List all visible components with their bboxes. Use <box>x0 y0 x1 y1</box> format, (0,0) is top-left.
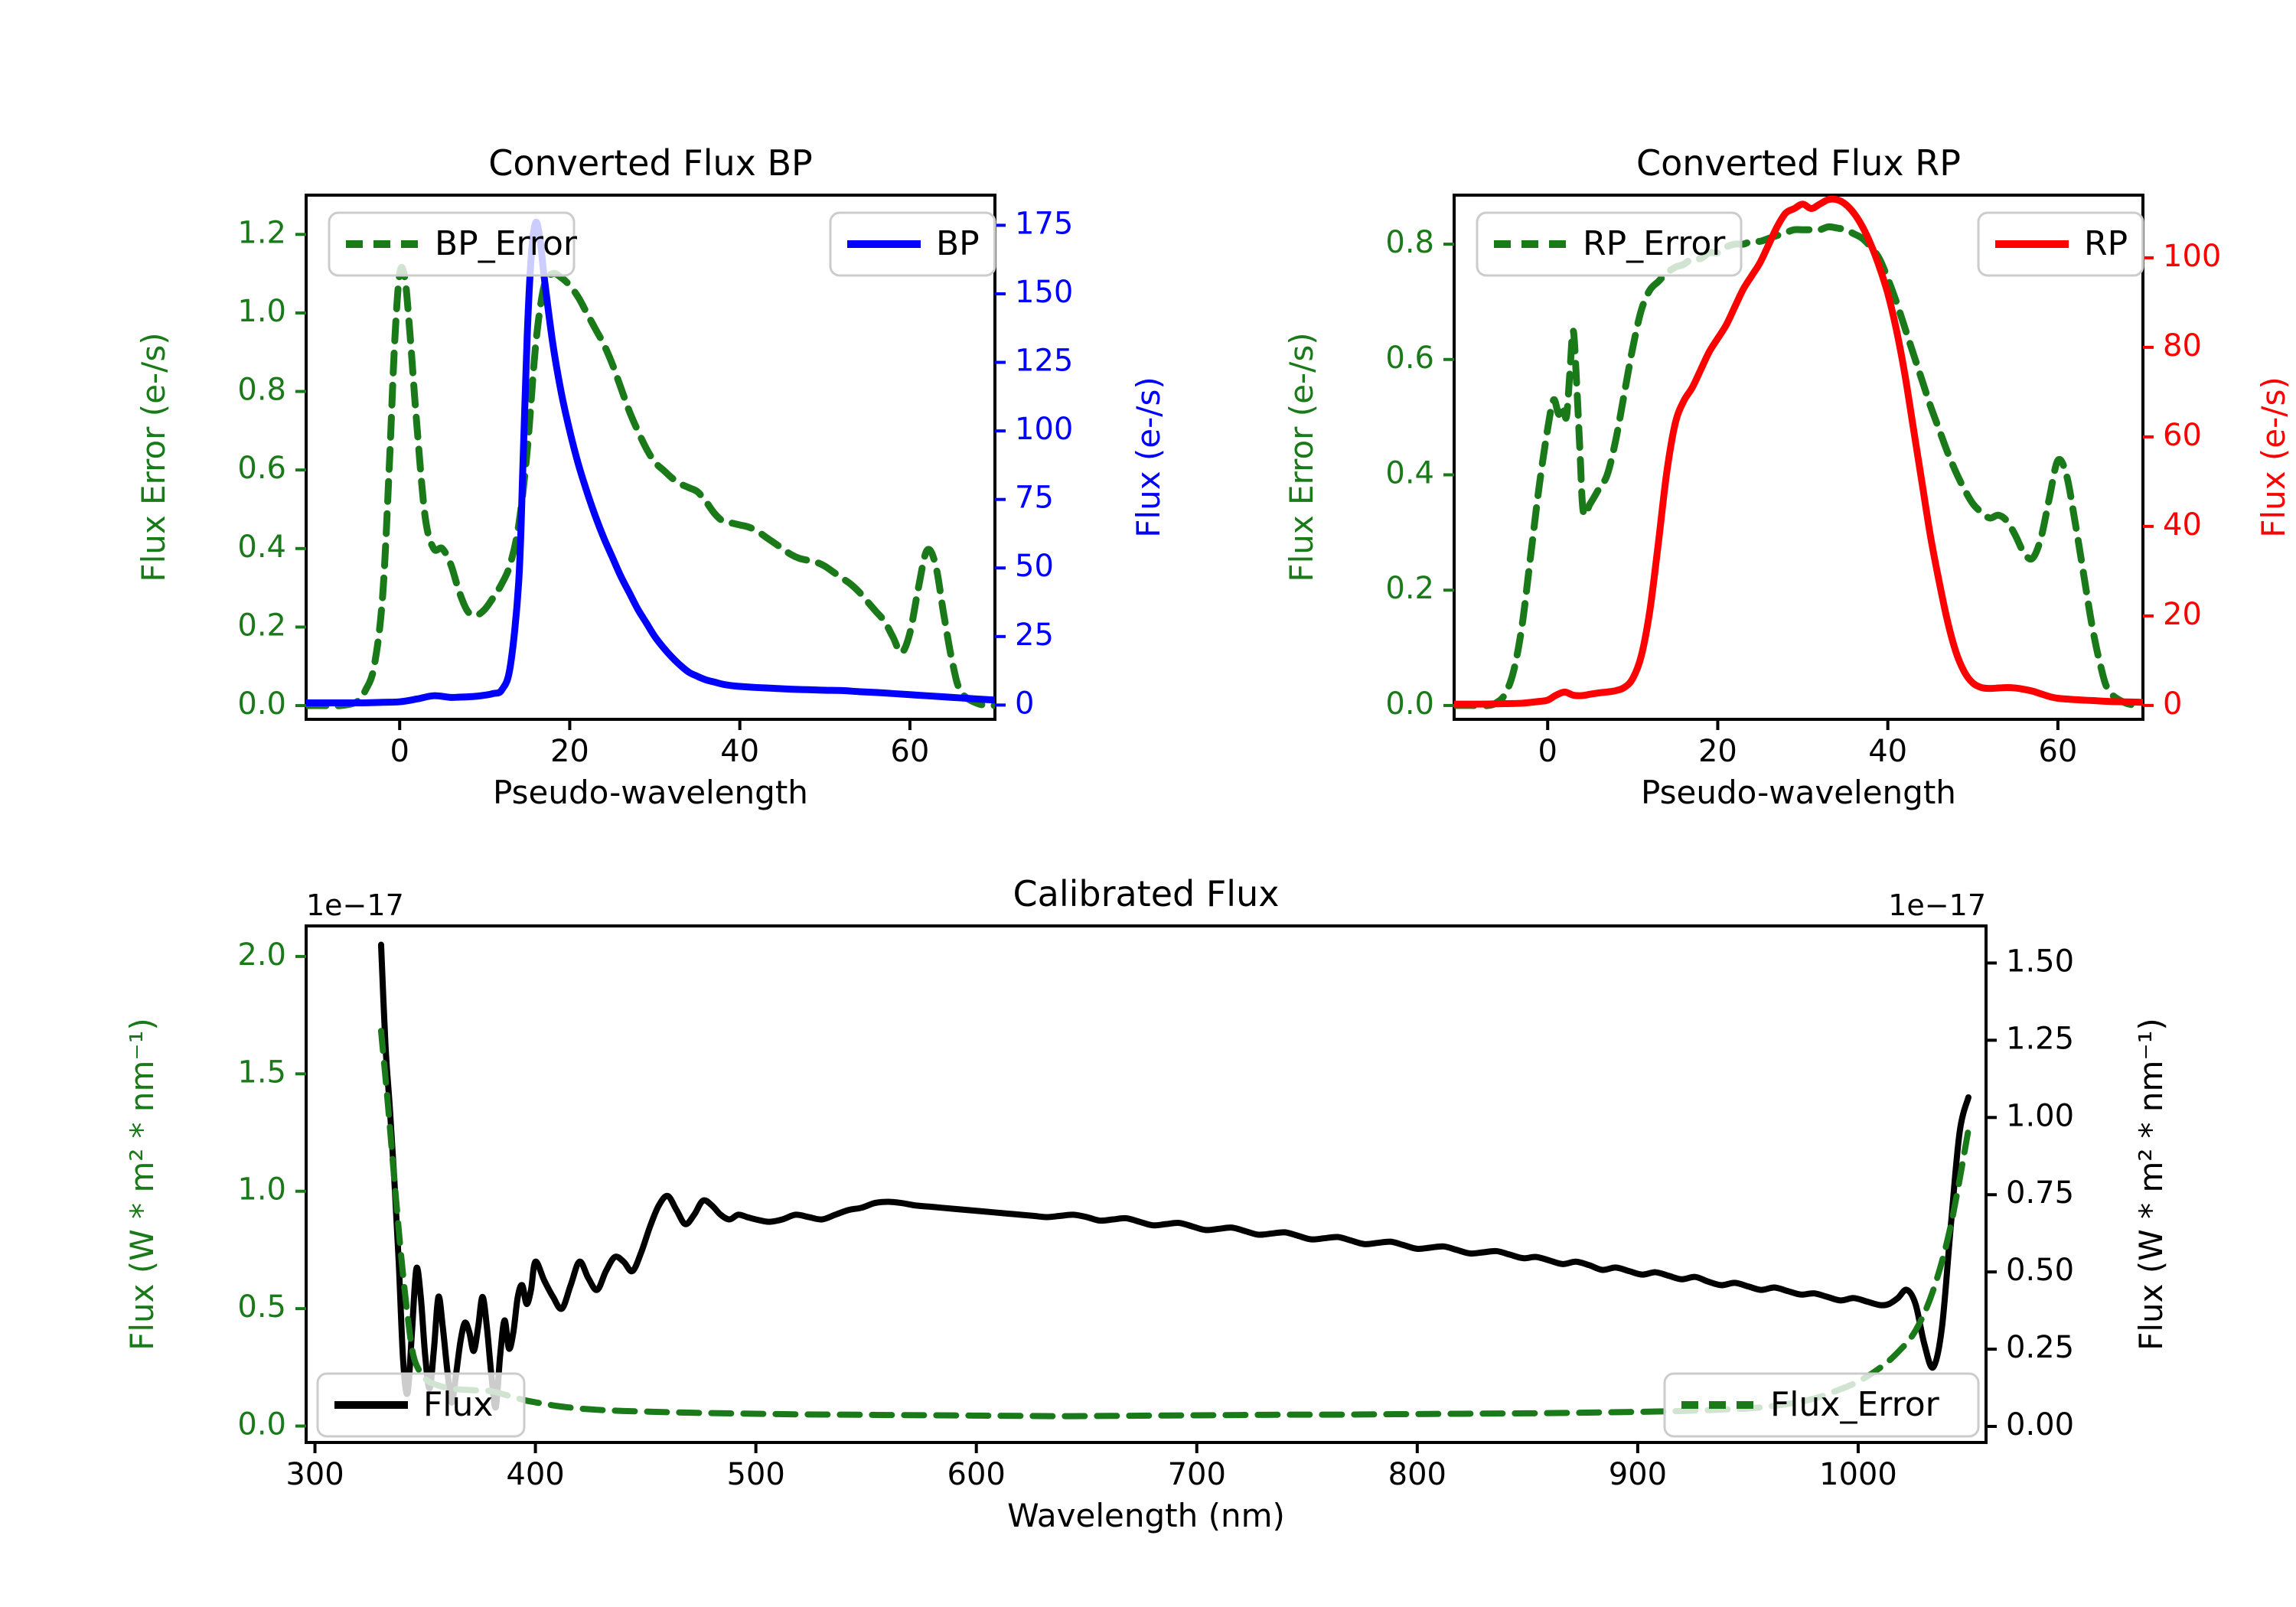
y-tick-label-right: 125 <box>1015 344 1073 379</box>
x-tick-label: 20 <box>1698 734 1737 769</box>
x-tick-label: 600 <box>947 1457 1006 1492</box>
y-axis-label-right: Flux (e-/s) <box>2255 376 2292 537</box>
y-tick-label: 0.0 <box>237 686 286 722</box>
y-axis-label-right: Flux (W * m² * nm⁻¹) <box>2132 1018 2170 1351</box>
legend-label: RP <box>2084 224 2128 263</box>
x-axis-label: Wavelength (nm) <box>1007 1497 1285 1534</box>
legend-flux_error[interactable]: Flux_Error <box>1665 1374 1978 1436</box>
y-tick-label: 0.8 <box>237 373 286 408</box>
y-tick-label: 0.4 <box>1385 455 1434 491</box>
matplotlib-figure: Converted Flux BP0204060Pseudo-wavelengt… <box>0 0 2296 1607</box>
y-tick-label: 1.0 <box>237 1172 286 1208</box>
series-line-bp_error <box>306 267 995 706</box>
axes-frame <box>306 926 1986 1442</box>
legend-rp_error[interactable]: RP_Error <box>1477 213 1741 275</box>
y-tick-label-right: 0 <box>1015 686 1034 721</box>
chart-converted-flux-rp: Converted Flux RP0204060Pseudo-wavelengt… <box>1148 0 2296 803</box>
y-tick-label-right: 0.75 <box>2006 1175 2074 1211</box>
y-axis-label: Flux (W * m² * nm⁻¹) <box>123 1018 161 1351</box>
panel-converted-flux-rp: Converted Flux RP0204060Pseudo-wavelengt… <box>1148 0 2296 803</box>
x-tick-label: 300 <box>285 1457 344 1492</box>
panel-converted-flux-bp: Converted Flux BP0204060Pseudo-wavelengt… <box>0 0 1148 803</box>
y-tick-label: 0.6 <box>1385 341 1434 376</box>
y-tick-label-right: 100 <box>1015 412 1073 447</box>
y-tick-label-right: 60 <box>2163 418 2202 453</box>
y-tick-label: 0.4 <box>237 530 286 565</box>
x-tick-label: 40 <box>720 734 759 769</box>
chart-title: Converted Flux RP <box>1636 142 1961 184</box>
x-tick-label: 20 <box>550 734 589 769</box>
y-tick-label-right: 40 <box>2163 507 2202 543</box>
series-line-flux <box>381 945 1968 1408</box>
x-tick-label: 0 <box>1538 734 1557 769</box>
x-tick-label: 40 <box>1868 734 1907 769</box>
y-tick-label-right: 0 <box>2163 686 2182 722</box>
x-tick-label: 800 <box>1388 1457 1446 1492</box>
y-axis-offset-label: 1e−17 <box>306 888 404 922</box>
y-tick-label: 0.8 <box>1385 225 1434 260</box>
y-axis-right-offset-label: 1e−17 <box>1888 888 1986 922</box>
y-tick-label-right: 0.50 <box>2006 1253 2074 1288</box>
y-tick-label: 1.5 <box>237 1054 286 1090</box>
x-tick-label: 60 <box>2038 734 2077 769</box>
legend-label: RP_Error <box>1583 224 1726 263</box>
y-tick-label: 2.0 <box>237 937 286 973</box>
y-tick-label: 1.0 <box>237 294 286 329</box>
chart-calibrated-flux: Calibrated Flux1e−171e−17300400500600700… <box>0 803 2296 1607</box>
y-axis-label: Flux Error (e-/s) <box>1283 332 1320 582</box>
y-tick-label: 0.6 <box>237 451 286 486</box>
y-tick-label-right: 175 <box>1015 206 1073 241</box>
series-line-rp_error <box>1454 227 2143 706</box>
y-tick-label-right: 75 <box>1015 481 1054 516</box>
legend-rp[interactable]: RP <box>1978 213 2143 275</box>
y-tick-label: 0.0 <box>1385 686 1434 722</box>
legend-label: BP_Error <box>435 224 578 263</box>
y-tick-label: 0.2 <box>1385 571 1434 606</box>
chart-title: Converted Flux BP <box>488 142 813 184</box>
x-tick-label: 1000 <box>1819 1457 1897 1492</box>
legend-label: Flux_Error <box>1770 1385 1940 1424</box>
y-tick-label-right: 1.00 <box>2006 1098 2074 1133</box>
legend-label: Flux <box>423 1385 493 1424</box>
x-tick-label: 0 <box>390 734 409 769</box>
y-tick-label-right: 150 <box>1015 275 1073 310</box>
y-tick-label-right: 20 <box>2163 597 2202 632</box>
legend-bp_error[interactable]: BP_Error <box>329 213 578 275</box>
x-tick-label: 400 <box>506 1457 564 1492</box>
y-tick-label: 0.0 <box>237 1407 286 1442</box>
x-tick-label: 60 <box>890 734 929 769</box>
y-tick-label: 0.5 <box>237 1289 286 1325</box>
y-tick-label-right: 0.25 <box>2006 1330 2074 1365</box>
legend-label: BP <box>936 224 980 263</box>
y-tick-label-right: 0.00 <box>2006 1407 2074 1442</box>
y-tick-label-right: 1.50 <box>2006 944 2074 979</box>
y-tick-label-right: 25 <box>1015 618 1054 653</box>
y-tick-label: 1.2 <box>237 215 286 250</box>
panel-calibrated-flux: Calibrated Flux1e−171e−17300400500600700… <box>0 803 2296 1607</box>
y-tick-label: 0.2 <box>237 608 286 643</box>
x-tick-label: 900 <box>1609 1457 1667 1492</box>
chart-converted-flux-bp: Converted Flux BP0204060Pseudo-wavelengt… <box>0 0 1148 803</box>
legend-bp[interactable]: BP <box>830 213 995 275</box>
y-axis-label: Flux Error (e-/s) <box>135 332 172 582</box>
x-tick-label: 500 <box>726 1457 784 1492</box>
y-tick-label-right: 1.25 <box>2006 1021 2074 1056</box>
x-tick-label: 700 <box>1168 1457 1226 1492</box>
y-tick-label-right: 100 <box>2163 239 2221 274</box>
chart-title: Calibrated Flux <box>1013 873 1280 914</box>
legend-flux[interactable]: Flux <box>318 1374 524 1436</box>
y-tick-label-right: 80 <box>2163 328 2202 363</box>
y-tick-label-right: 50 <box>1015 549 1054 584</box>
